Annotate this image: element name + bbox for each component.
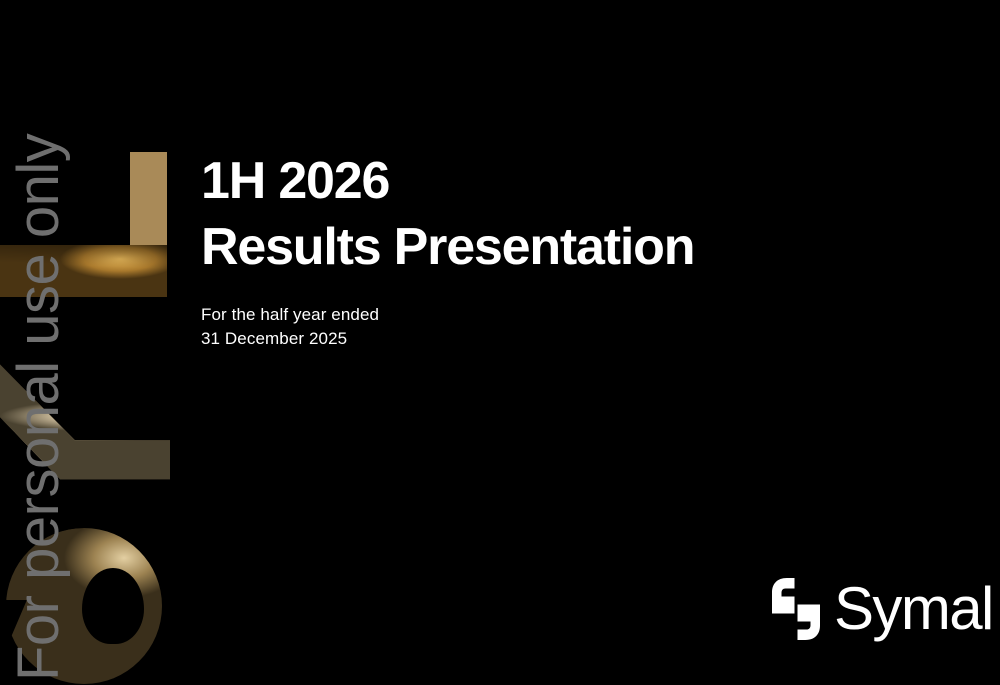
presentation-title-slide: For personal use only 1H 2026 Results Pr… bbox=[0, 0, 1000, 685]
page-title: 1H 2026 Results Presentation bbox=[201, 148, 901, 280]
title-line-2: Results Presentation bbox=[201, 214, 901, 280]
symal-logo-mark-icon bbox=[772, 578, 820, 640]
brand-wordmark: Symal bbox=[834, 579, 993, 639]
watermark-text: For personal use only bbox=[0, 0, 76, 685]
hero-image-bowl-counter bbox=[82, 568, 144, 644]
subtitle-line-2: 31 December 2025 bbox=[201, 327, 379, 351]
title-line-1: 1H 2026 bbox=[201, 148, 901, 214]
brand-logo: Symal bbox=[772, 578, 993, 640]
subtitle-line-1: For the half year ended bbox=[201, 303, 379, 327]
subtitle: For the half year ended 31 December 2025 bbox=[201, 303, 379, 351]
